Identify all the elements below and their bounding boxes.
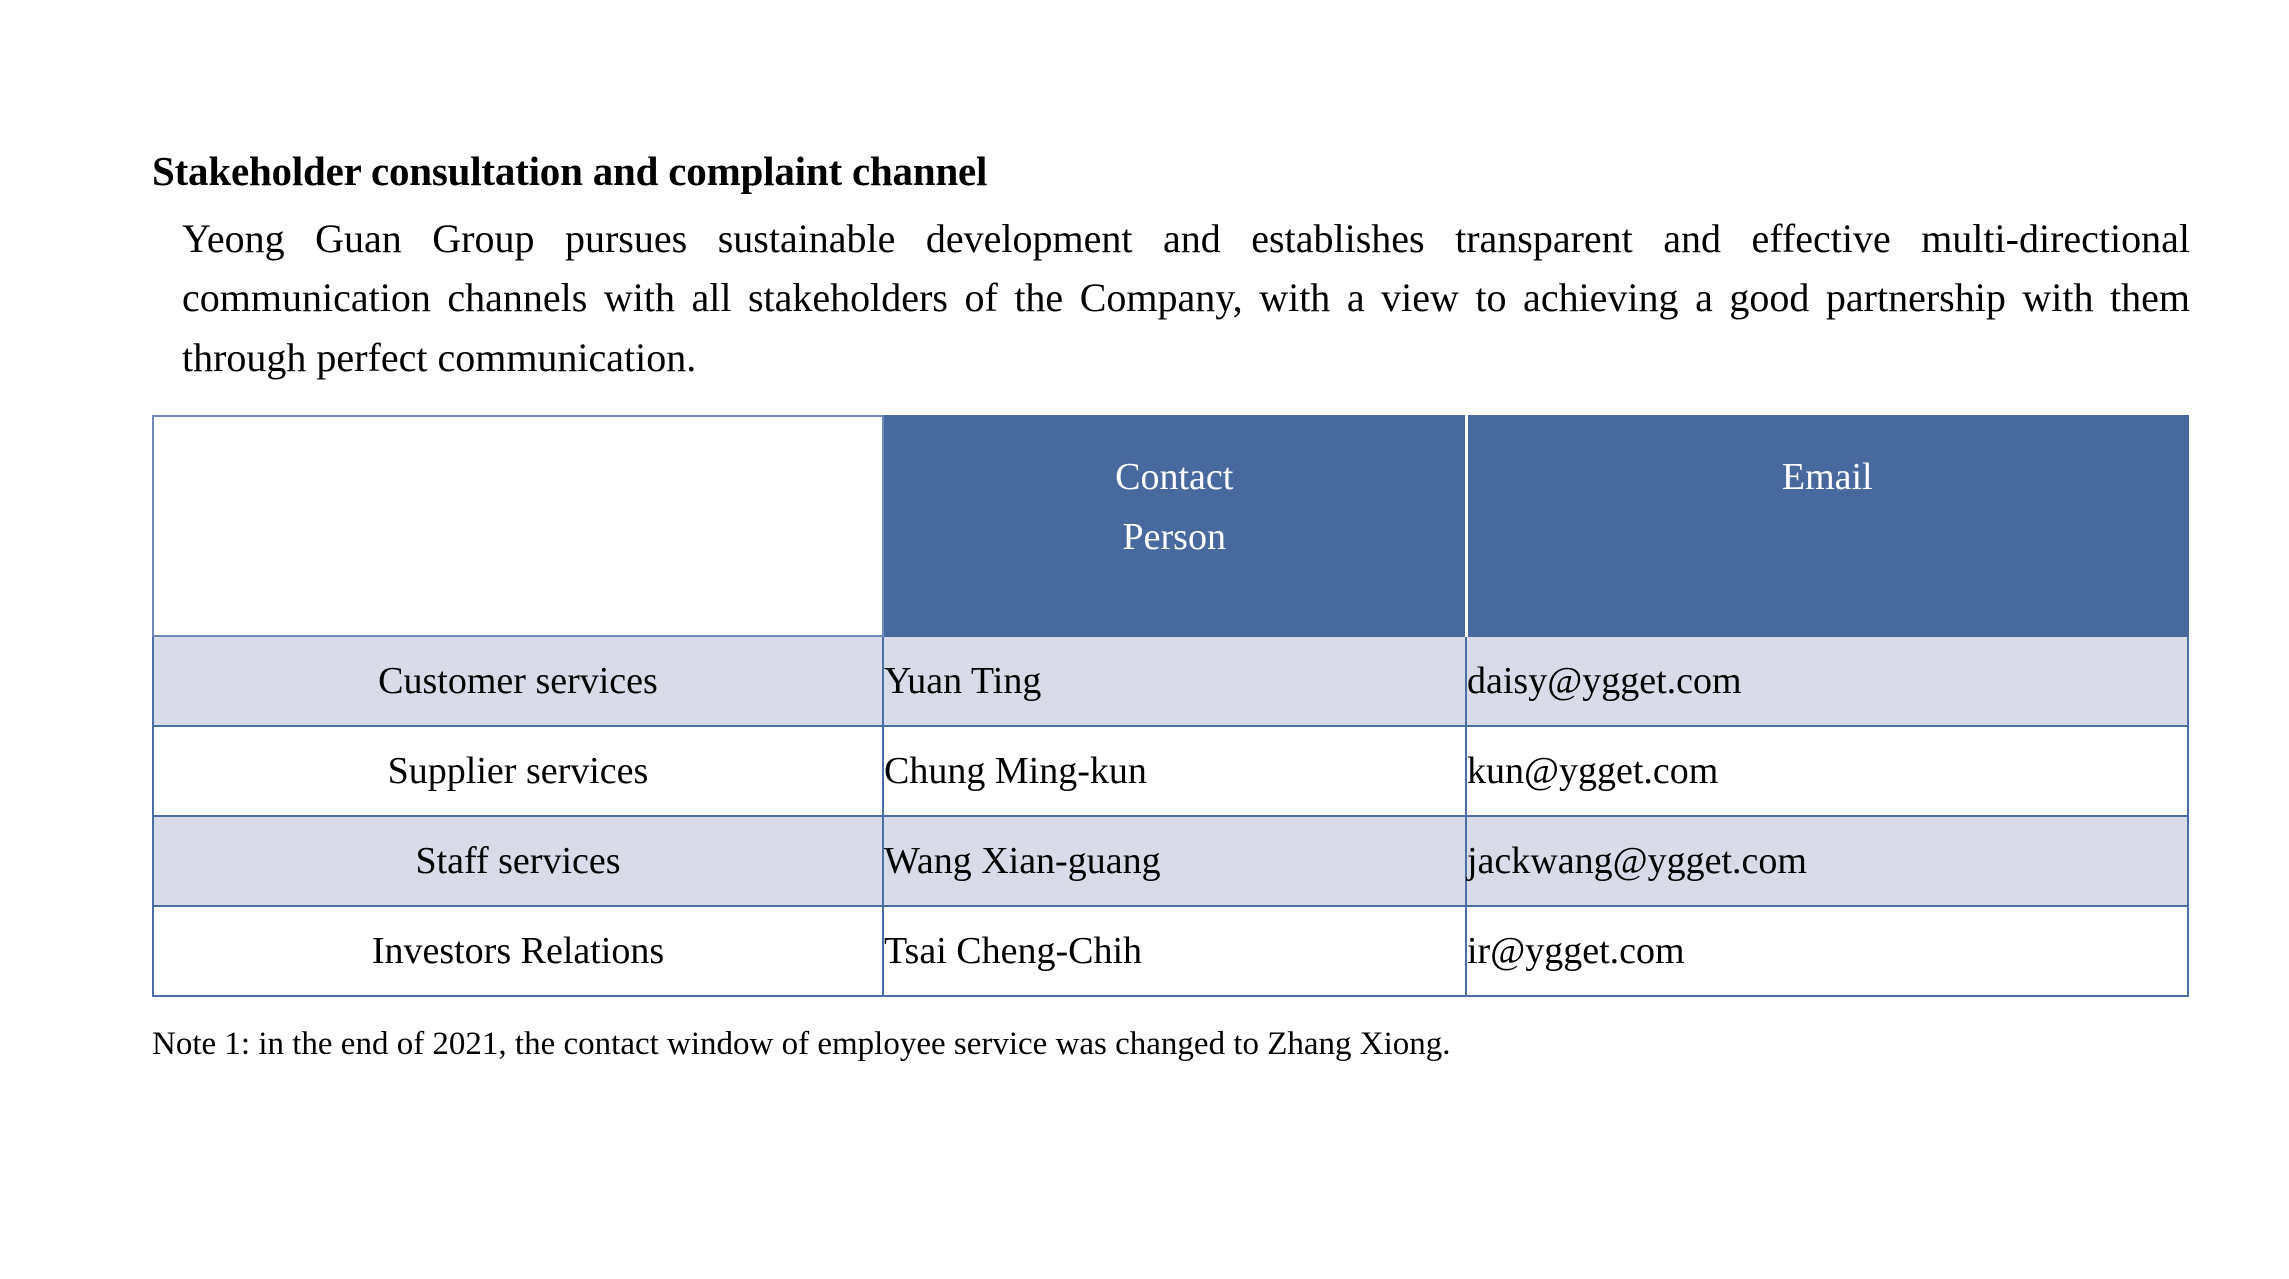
table-header-blank (153, 416, 883, 636)
table-header-contact-person: Contact Person (883, 416, 1466, 636)
cell-email: daisy@ygget.com (1466, 636, 2188, 726)
table-header-row: Contact Person Email (153, 416, 2188, 636)
cell-contact-person: Tsai Cheng-Chih (883, 906, 1466, 996)
document-page: Stakeholder consultation and complaint c… (0, 0, 2289, 1279)
intro-paragraph: Yeong Guan Group pursues sustainable dev… (152, 209, 2190, 387)
cell-category: Investors Relations (153, 906, 883, 996)
cell-category: Supplier services (153, 726, 883, 816)
cell-contact-person: Chung Ming-kun (883, 726, 1466, 816)
cell-email: kun@ygget.com (1466, 726, 2188, 816)
stakeholder-table-wrapper: Contact Person Email Customer services Y… (152, 415, 2190, 997)
cell-email: jackwang@ygget.com (1466, 816, 2188, 906)
document-content: Stakeholder consultation and complaint c… (152, 148, 2190, 1066)
contact-person-line-1: Contact (884, 447, 1465, 507)
table-row: Customer services Yuan Ting daisy@ygget.… (153, 636, 2188, 726)
cell-category: Customer services (153, 636, 883, 726)
email-header-label: Email (1468, 447, 2188, 507)
page-title: Stakeholder consultation and complaint c… (152, 148, 2190, 195)
cell-contact-person: Yuan Ting (883, 636, 1466, 726)
table-row: Supplier services Chung Ming-kun kun@ygg… (153, 726, 2188, 816)
contact-person-line-2: Person (884, 507, 1465, 567)
table-row: Investors Relations Tsai Cheng-Chih ir@y… (153, 906, 2188, 996)
table-row: Staff services Wang Xian-guang jackwang@… (153, 816, 2188, 906)
table-footnote: Note 1: in the end of 2021, the contact … (152, 1023, 2190, 1066)
stakeholder-contact-table: Contact Person Email Customer services Y… (152, 415, 2189, 997)
table-header-email: Email (1466, 416, 2188, 636)
cell-email: ir@ygget.com (1466, 906, 2188, 996)
cell-category: Staff services (153, 816, 883, 906)
cell-contact-person: Wang Xian-guang (883, 816, 1466, 906)
